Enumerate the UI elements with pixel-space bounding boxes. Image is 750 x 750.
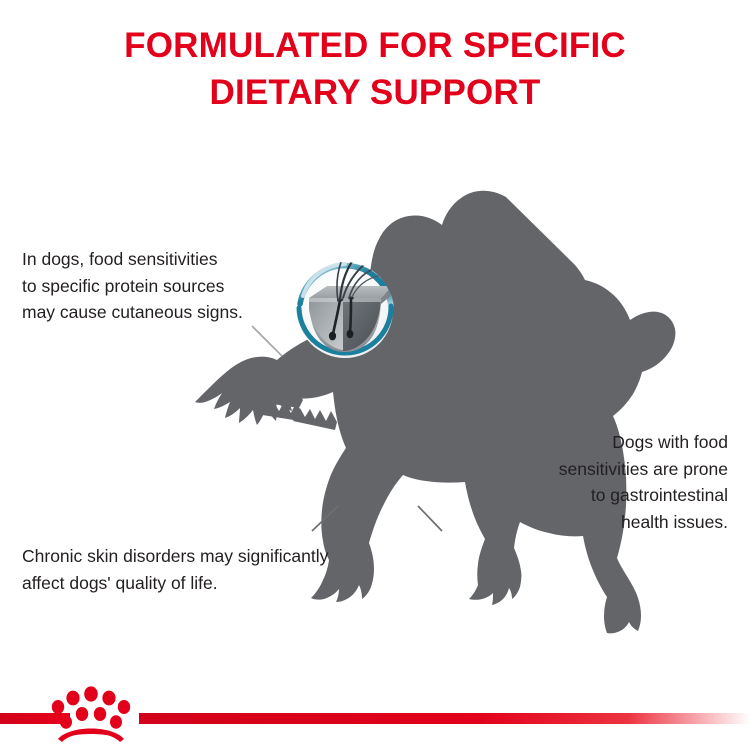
annotation-quality-of-life: Chronic skin disorders may significantly… xyxy=(22,543,442,596)
footer-bar-right-segment xyxy=(139,713,750,724)
infographic-canvas: FORMULATED FOR SPECIFIC DIETARY SUPPORT xyxy=(0,0,750,750)
annotation-skin-sensitivity: In dogs, food sensitivities to specific … xyxy=(22,246,302,326)
dog-silhouette xyxy=(0,0,750,750)
annotation-gastrointestinal: Dogs with food sensitivities are prone t… xyxy=(468,429,728,535)
royal-canin-crown-logo xyxy=(45,682,137,744)
footer-brand-bar xyxy=(0,700,750,750)
